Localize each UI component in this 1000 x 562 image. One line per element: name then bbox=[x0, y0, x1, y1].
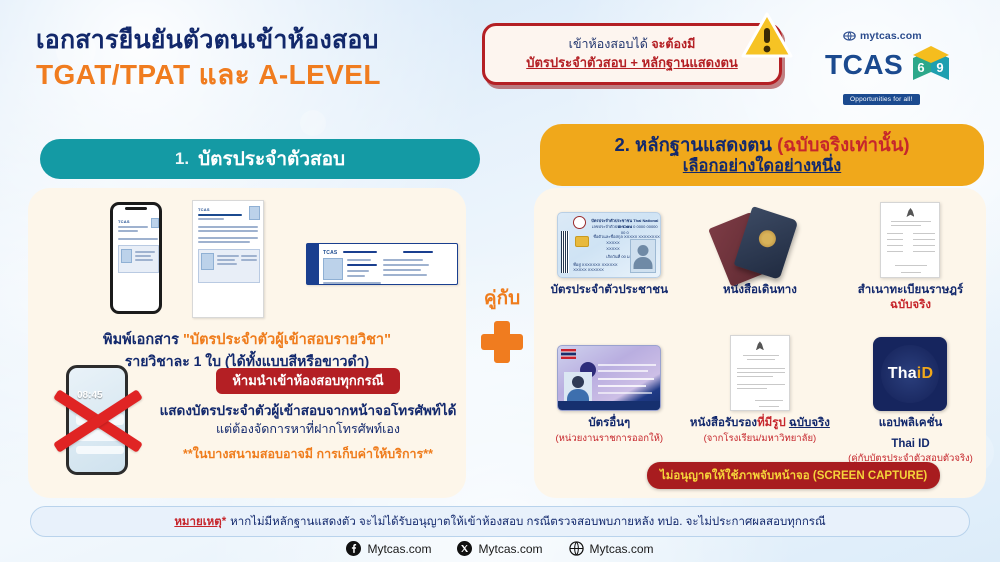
phone-warning-block: ห้ามนำเข้าห้องสอบทุกกรณี แสดงบัตรประจำตั… bbox=[152, 368, 464, 464]
phone-exam-card-preview-icon: TCAS bbox=[110, 202, 162, 314]
social-link-facebook[interactable]: Mytcas.com bbox=[346, 541, 431, 556]
a4-exam-card-document-icon: TCAS bbox=[192, 200, 264, 318]
globe-icon bbox=[843, 31, 856, 41]
identity-caption: หนังสือรับรองที่มีรูป ฉบับจริง bbox=[685, 416, 836, 431]
preview-tcas-mark: TCAS bbox=[118, 219, 130, 224]
passport-icon bbox=[712, 206, 808, 278]
plus-icon bbox=[481, 321, 523, 363]
phone-not-allowed-icon: 08:45 bbox=[52, 365, 144, 477]
requirement-alert-box: เข้าห้องสอบได้ จะต้องมี บัตรประจำตัวสอบ … bbox=[482, 23, 782, 85]
thumb-wrap bbox=[685, 196, 836, 278]
title-line-2: TGAT/TPAT และ A-LEVEL bbox=[36, 58, 466, 91]
pairing-connector: คู่กับ bbox=[470, 288, 534, 363]
tcas-brand-logo: mytcas.com TCAS 6 9 Opportunities for al… bbox=[825, 30, 990, 92]
thumb-wrap bbox=[685, 329, 836, 411]
identity-row-bottom: บัตรอื่นๆ (หน่วยงานราชการออกให้) bbox=[534, 329, 986, 465]
warning-line-2: แต่ต้องจัดการหาที่ฝากโทรศัพท์เอง bbox=[152, 420, 464, 438]
alert-line-2: บัตรประจำตัวสอบ + หลักฐานแสดงตน bbox=[526, 54, 738, 72]
footnote-label: หมายเหตุ bbox=[174, 513, 221, 531]
caption-line-1: พิมพ์เอกสาร "บัตรประจำตัวผู้เข้าสอบรายวิ… bbox=[28, 330, 466, 351]
thumb-wrap bbox=[534, 329, 685, 411]
identity-caption: แอปพลิเคชั่น bbox=[835, 416, 986, 431]
open-book-icon: 6 9 bbox=[908, 42, 954, 88]
identity-subcaption: (หน่วยงานราชการออกให้) bbox=[534, 433, 685, 446]
social-label: Mytcas.com bbox=[590, 542, 654, 556]
red-cross-overlay-icon bbox=[52, 365, 144, 477]
thai-national-id-card-icon: บัตรประจำตัวประชาชน Thai National ID Car… bbox=[557, 212, 661, 278]
social-label: Mytcas.com bbox=[478, 542, 542, 556]
section-2-header: 2. หลักฐานแสดงตน (ฉบับจริงเท่านั้น) เลือ… bbox=[540, 124, 984, 186]
svg-text:6: 6 bbox=[918, 60, 925, 75]
section-1-number: 1. bbox=[175, 149, 189, 169]
identity-option-national-id: บัตรประจำตัวประชาชน Thai National ID Car… bbox=[534, 196, 685, 313]
section-2-number: 2. bbox=[614, 134, 629, 155]
section-2-subtitle: เลือกอย่างใดอย่างหนึ่ง bbox=[683, 156, 841, 177]
preview-tcas-mark: TCAS bbox=[198, 207, 210, 212]
social-link-website[interactable]: Mytcas.com bbox=[569, 541, 654, 556]
identity-option-passport: หนังสือเดินทาง bbox=[685, 196, 836, 313]
certification-letter-icon bbox=[730, 335, 790, 411]
thai-id-app-icon: ThaiD bbox=[873, 337, 947, 411]
identity-caption: บัตรอื่นๆ bbox=[534, 416, 685, 431]
identity-caption: หนังสือเดินทาง bbox=[685, 283, 836, 298]
warning-line-1: แสดงบัตรประจำตัวผู้เข้าสอบจากหน้าจอโทรศั… bbox=[152, 402, 464, 421]
identity-caption-appname: Thai ID bbox=[835, 437, 986, 452]
warning-line-3: **ในบางสนามสอบอาจมี การเก็บค่าให้บริการ*… bbox=[152, 446, 464, 464]
infographic-canvas: เอกสารยืนยันตัวตนเข้าห้องสอบ TGAT/TPAT แ… bbox=[0, 0, 1000, 562]
section-2-label-paren: (ฉบับจริงเท่านั้น) bbox=[777, 134, 909, 155]
x-twitter-icon bbox=[457, 541, 472, 556]
thumb-wrap bbox=[835, 196, 986, 278]
no-screen-capture-badge: ไม่อนุญาตให้ใช้ภาพจับหน้าจอ (SCREEN CAPT… bbox=[647, 462, 940, 489]
section-1-header: 1. บัตรประจำตัวสอบ bbox=[40, 139, 480, 179]
house-registration-document-icon bbox=[880, 202, 940, 278]
globe-icon bbox=[569, 541, 584, 556]
identity-caption: สำเนาทะเบียนราษฎร์ bbox=[835, 283, 986, 298]
facebook-icon bbox=[346, 541, 361, 556]
brand-site-label: mytcas.com bbox=[860, 30, 922, 42]
decorative-bokeh bbox=[300, 110, 326, 136]
identity-subcaption: (จากโรงเรียน/มหาวิทยาลัย) bbox=[685, 433, 836, 446]
thaid-logo-text: ThaiD bbox=[888, 365, 933, 383]
section-2-title-row: 2. หลักฐานแสดงตน (ฉบับจริงเท่านั้น) bbox=[614, 134, 909, 156]
title-line-1: เอกสารยืนยันตัวตนเข้าห้องสอบ bbox=[36, 26, 466, 56]
alert-line-1: เข้าห้องสอบได้ จะต้องมี bbox=[569, 36, 696, 53]
identity-document-grid: บัตรประจำตัวประชาชน Thai National ID Car… bbox=[534, 196, 986, 466]
identity-option-thaid-app: ThaiD แอปพลิเคชั่น Thai ID (คู่กับบัตรปร… bbox=[835, 329, 986, 465]
footnote-bar: หมายเหตุ* หากไม่มีหลักฐานแสดงตัว จะไม่ได… bbox=[30, 506, 970, 537]
section-2-label: หลักฐานแสดงตน bbox=[635, 134, 772, 155]
phone-notch bbox=[125, 207, 147, 210]
section-1-label: บัตรประจำตัวสอบ bbox=[198, 144, 345, 174]
thumb-wrap: ThaiD bbox=[835, 329, 986, 411]
social-label: Mytcas.com bbox=[367, 542, 431, 556]
exam-card-previews: TCAS TCAS bbox=[110, 200, 460, 322]
identity-option-other-card: บัตรอื่นๆ (หน่วยงานราชการออกให้) bbox=[534, 329, 685, 465]
social-links-bar: Mytcas.com Mytcas.com Mytcas.com bbox=[0, 541, 1000, 556]
social-link-x[interactable]: Mytcas.com bbox=[457, 541, 542, 556]
other-government-card-icon bbox=[557, 345, 661, 411]
pairing-keyword: คู่กับ bbox=[470, 288, 534, 311]
tcas-wordmark: TCAS bbox=[825, 51, 903, 79]
brand-site-row: mytcas.com bbox=[843, 30, 990, 42]
identity-caption-original: ฉบับจริง bbox=[835, 298, 986, 313]
thumb-wrap: บัตรประจำตัวประชาชน Thai National ID Car… bbox=[534, 196, 685, 278]
warning-triangle-icon bbox=[741, 12, 793, 60]
no-phone-badge: ห้ามนำเข้าห้องสอบทุกกรณี bbox=[216, 368, 399, 394]
identity-option-house-registration: สำเนาทะเบียนราษฎร์ ฉบับจริง bbox=[835, 196, 986, 313]
exam-card-landscape-icon: TCAS bbox=[306, 243, 458, 285]
identity-caption: บัตรประจำตัวประชาชน bbox=[534, 283, 685, 298]
brand-tagline: Opportunities for all! bbox=[843, 94, 920, 105]
preview-tcas-mark: TCAS bbox=[323, 250, 337, 256]
identity-option-certification-letter: หนังสือรับรองที่มีรูป ฉบับจริง (จากโรงเร… bbox=[685, 329, 836, 465]
identity-row-top: บัตรประจำตัวประชาชน Thai National ID Car… bbox=[534, 196, 986, 313]
svg-text:9: 9 bbox=[937, 60, 944, 75]
footnote-text: หากไม่มีหลักฐานแสดงตัว จะไม่ได้รับอนุญาต… bbox=[230, 513, 825, 531]
page-title: เอกสารยืนยันตัวตนเข้าห้องสอบ TGAT/TPAT แ… bbox=[36, 26, 466, 91]
footnote-star: * bbox=[222, 516, 226, 528]
brand-wordmark-row: TCAS 6 9 bbox=[825, 42, 990, 88]
